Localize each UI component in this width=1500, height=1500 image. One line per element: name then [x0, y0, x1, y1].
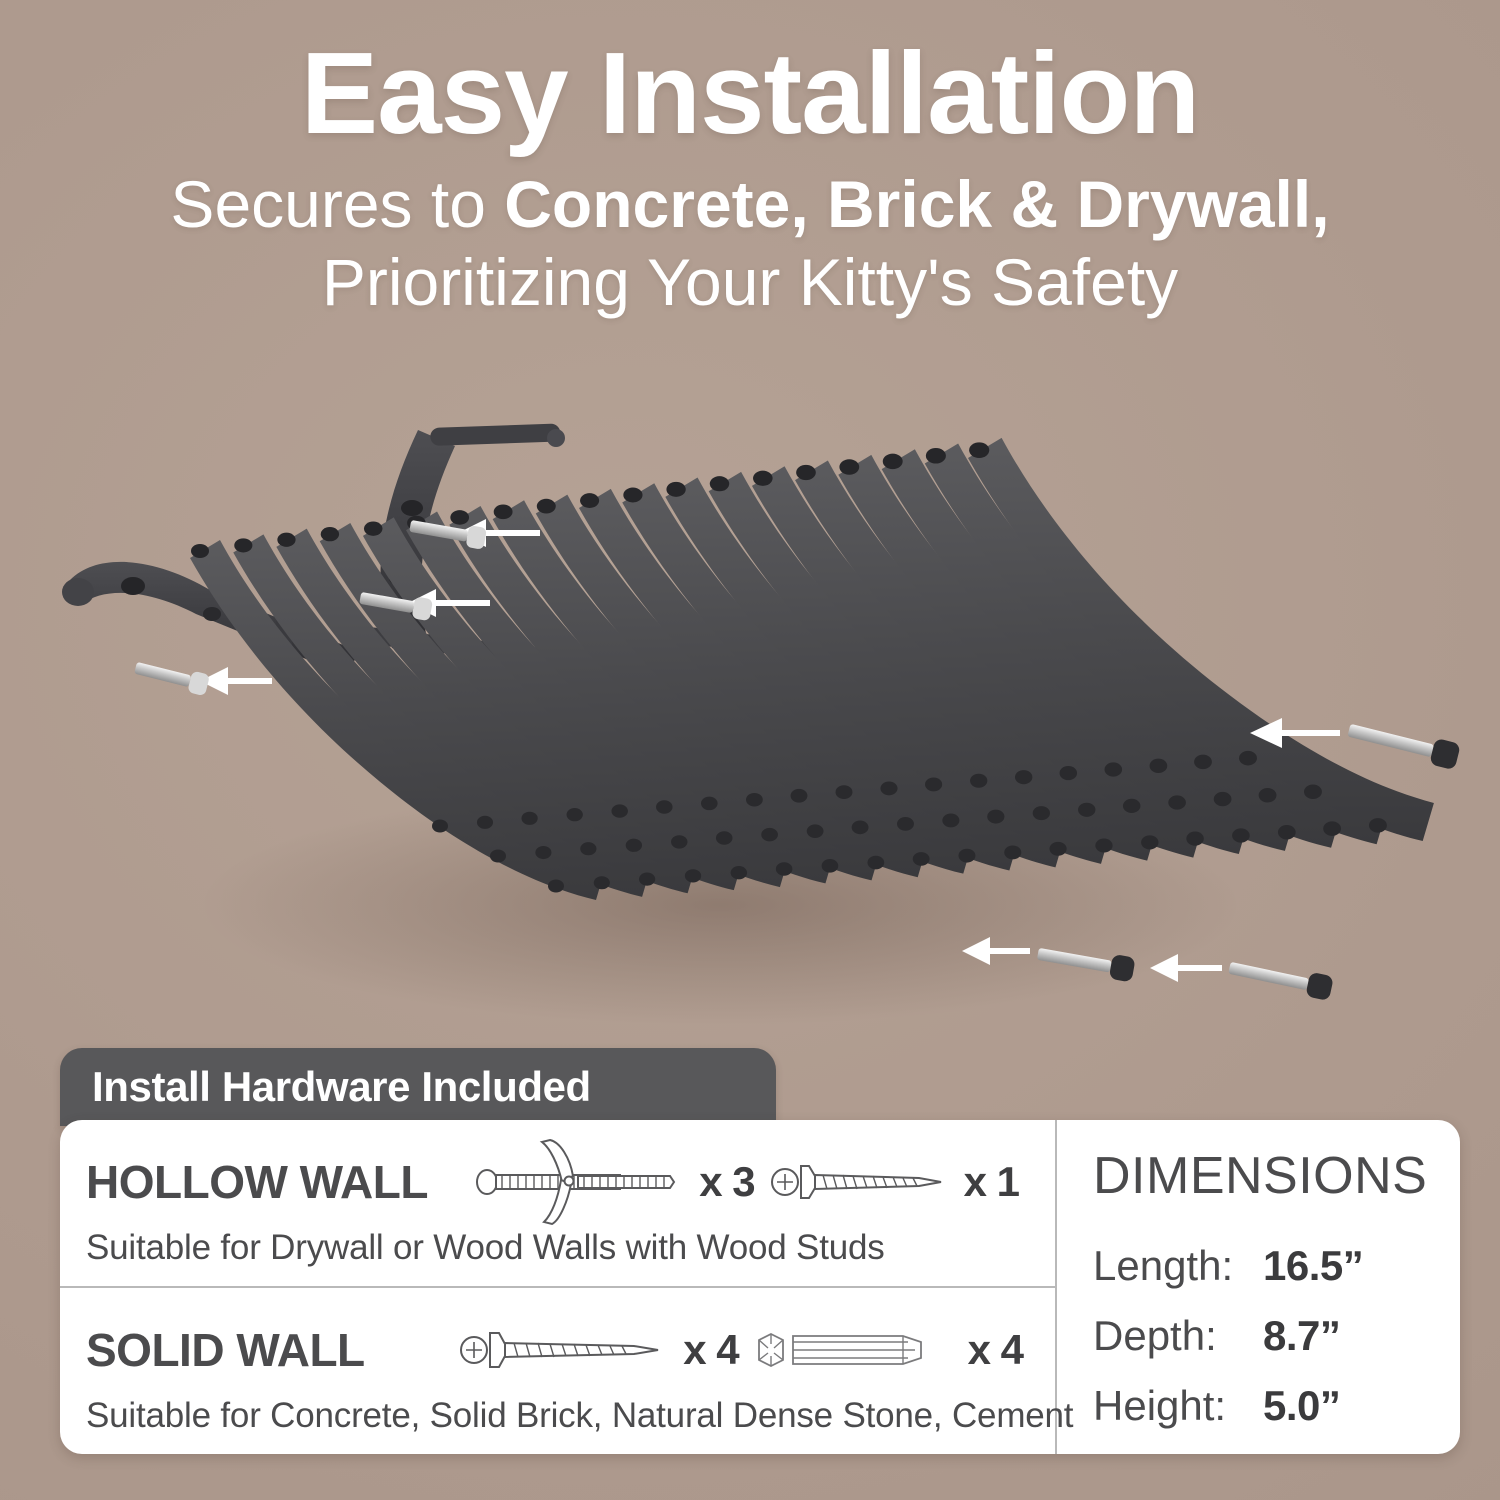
slat-spine-hole — [432, 820, 448, 833]
hardware-row-header: SOLID WALL x 4 — [86, 1308, 1029, 1392]
info-card: Install Hardware Included HOLLOW WALL — [60, 1048, 1460, 1454]
slat-spine-hole — [1304, 784, 1322, 799]
hardware-description-hollow-wall: Suitable for Drywall or Wood Walls with … — [86, 1228, 1029, 1268]
dimensions-title: DIMENSIONS — [1093, 1146, 1460, 1206]
slat-spine-hole — [567, 808, 583, 821]
slat-spine-hole — [1095, 839, 1112, 853]
slat-spine-hole — [580, 842, 596, 855]
toggle-bolt-icon — [474, 1136, 689, 1228]
slat-spine-hole — [761, 828, 778, 842]
slat-spine-hole — [1259, 788, 1277, 802]
subtitle-line-2: Prioritizing Your Kitty's Safety — [0, 244, 1500, 322]
hardware-name-hollow-wall: HOLLOW WALL — [86, 1155, 428, 1209]
slat-mount-hole — [277, 533, 295, 547]
product-illustration — [0, 400, 1500, 1060]
hardware-item-concrete-screw: x 4 — [458, 1322, 738, 1378]
slat-spine-hole — [1150, 759, 1168, 773]
slat-mount-hole — [969, 442, 989, 458]
hardware-qty-concrete-screw: x 4 — [683, 1326, 738, 1374]
slat-spine-hole — [836, 785, 853, 799]
slat-spine-hole — [987, 810, 1004, 824]
dimension-value-height: 5.0” — [1263, 1382, 1340, 1430]
hardware-items-hollow-wall: x 3 — [474, 1136, 1019, 1228]
slat-spine-hole — [1214, 792, 1232, 806]
hardware-name-solid-wall: SOLID WALL — [86, 1323, 365, 1377]
slat-spine-hole — [685, 869, 701, 882]
slat-spine-hole — [1194, 755, 1212, 769]
hardware-row-solid-wall: SOLID WALL x 4 — [60, 1286, 1055, 1454]
slat-spine-hole — [1078, 803, 1095, 817]
slat-mount-hole — [321, 527, 339, 541]
hardware-qty-wall-anchor: x 4 — [968, 1326, 1023, 1374]
dimension-row-length: Length: 16.5” — [1093, 1242, 1460, 1290]
slat-mount-hole — [537, 499, 556, 514]
dimension-label-depth: Depth: — [1093, 1312, 1263, 1360]
slat-mount-hole — [234, 538, 252, 552]
slat-spine-hole — [1033, 806, 1050, 820]
screw-annotation-bracket-left — [133, 657, 272, 696]
subtitle-line-1: Secures to Concrete, Brick & Drywall, — [0, 166, 1500, 244]
slat-mount-hole — [191, 544, 209, 558]
dimensions-column: DIMENSIONS Length: 16.5” Depth: 8.7” Hei… — [1057, 1120, 1460, 1454]
slat-spine-hole — [1239, 751, 1257, 766]
slat-spine-hole — [1232, 828, 1250, 842]
slat-spine-hole — [490, 850, 506, 863]
hardware-qty-toggle-bolt: x 3 — [699, 1158, 754, 1206]
slat-spine-hole — [913, 852, 930, 866]
screw-annotation-bottom-right — [1150, 954, 1334, 1001]
slat-spine-hole — [925, 777, 942, 791]
slat-spine-hole — [1186, 832, 1203, 846]
bracket-hole — [203, 607, 221, 621]
slat-spine-hole — [671, 835, 687, 848]
slat-spine-hole — [656, 800, 673, 813]
slat-mount-hole — [926, 448, 946, 464]
slat-mount-hole — [623, 488, 642, 503]
slat-mount-hole — [494, 504, 513, 519]
dimension-value-depth: 8.7” — [1263, 1312, 1340, 1360]
slat-spine-hole — [548, 880, 564, 893]
slat-spine-hole — [791, 789, 808, 803]
subtitle-prefix: Secures to — [170, 167, 504, 241]
slat-spine-hole — [1168, 795, 1186, 809]
bracket-hole — [121, 577, 145, 595]
slat-spine-hole — [970, 774, 987, 788]
slat-spine-hole — [731, 866, 747, 879]
slat-spine-hole — [1015, 770, 1032, 784]
hardware-item-toggle-bolt: x 3 — [474, 1136, 754, 1228]
install-hardware-tab: Install Hardware Included — [60, 1048, 776, 1126]
slat-spine-hole — [594, 876, 610, 889]
hardware-row-hollow-wall: HOLLOW WALL — [60, 1120, 1055, 1286]
wood-screw-icon — [769, 1154, 954, 1210]
slat-spine-hole — [1141, 835, 1158, 849]
info-card-body: HOLLOW WALL — [60, 1120, 1460, 1454]
slat-spine-hole — [746, 793, 763, 807]
dimension-value-length: 16.5” — [1263, 1242, 1363, 1290]
slat-spine-hole — [822, 859, 839, 873]
slat-spine-hole — [1123, 799, 1140, 813]
slat-spine-hole — [1060, 766, 1077, 780]
slat-spine-hole — [852, 820, 869, 834]
slat-spine-hole — [639, 873, 655, 886]
slat-spine-hole — [477, 816, 493, 829]
hardware-row-header: HOLLOW WALL — [86, 1140, 1029, 1224]
subtitle-emphasis: Concrete, Brick & Drywall, — [504, 167, 1329, 241]
slat-spine-hole — [807, 824, 824, 838]
slat-spine-hole — [880, 781, 897, 795]
slat-spine-hole — [1278, 825, 1296, 839]
slat-spine-hole — [611, 804, 627, 817]
install-hardware-tab-label: Install Hardware Included — [92, 1063, 591, 1111]
slat-mount-hole — [710, 476, 729, 491]
slat-spine-hole — [626, 839, 642, 852]
hardware-items-solid-wall: x 4 x 4 — [458, 1322, 1023, 1378]
slat-mount-hole — [580, 493, 599, 508]
wall-anchor-icon — [753, 1322, 958, 1378]
slat-spine-hole — [942, 813, 959, 827]
hardware-item-wood-screw: x 1 — [769, 1154, 1019, 1210]
hardware-item-wall-anchor: x 4 — [753, 1322, 1023, 1378]
slat-spine-hole — [1049, 842, 1066, 856]
hardware-description-solid-wall: Suitable for Concrete, Solid Brick, Natu… — [86, 1396, 1029, 1436]
slat-mount-hole — [796, 465, 816, 480]
hardware-qty-wood-screw: x 1 — [964, 1158, 1019, 1206]
slat-mount-hole — [883, 454, 903, 469]
bracket-hole — [401, 500, 423, 516]
dimension-label-length: Length: — [1093, 1242, 1263, 1290]
header-block: Easy Installation Secures to Concrete, B… — [0, 34, 1500, 322]
slat-mount-hole — [450, 510, 469, 525]
hardware-column: HOLLOW WALL — [60, 1120, 1057, 1454]
slat-spine-hole — [716, 831, 733, 844]
slat-spine-hole — [897, 817, 914, 831]
dimension-row-depth: Depth: 8.7” — [1093, 1312, 1460, 1360]
dimension-row-height: Height: 5.0” — [1093, 1382, 1460, 1430]
slat-spine-hole — [535, 846, 551, 859]
slat-spine-hole — [1105, 762, 1123, 776]
slat-spine-hole — [867, 856, 884, 870]
slat-spine-hole — [1369, 818, 1387, 833]
slat-spine-hole — [521, 812, 537, 825]
dimension-label-height: Height: — [1093, 1382, 1263, 1430]
wood-screw-icon — [458, 1322, 673, 1378]
slat-mount-hole — [364, 521, 382, 535]
slat-spine-hole — [701, 797, 718, 811]
slat-spine-hole — [776, 862, 793, 875]
slat-spine-hole — [1323, 821, 1341, 835]
slat-mount-hole — [753, 471, 773, 486]
slat-spine-hole — [1004, 845, 1021, 859]
slat-mount-hole — [666, 482, 685, 497]
slat-mount-hole — [839, 459, 859, 474]
slat-spine-hole — [958, 849, 975, 863]
page-title: Easy Installation — [0, 34, 1500, 152]
